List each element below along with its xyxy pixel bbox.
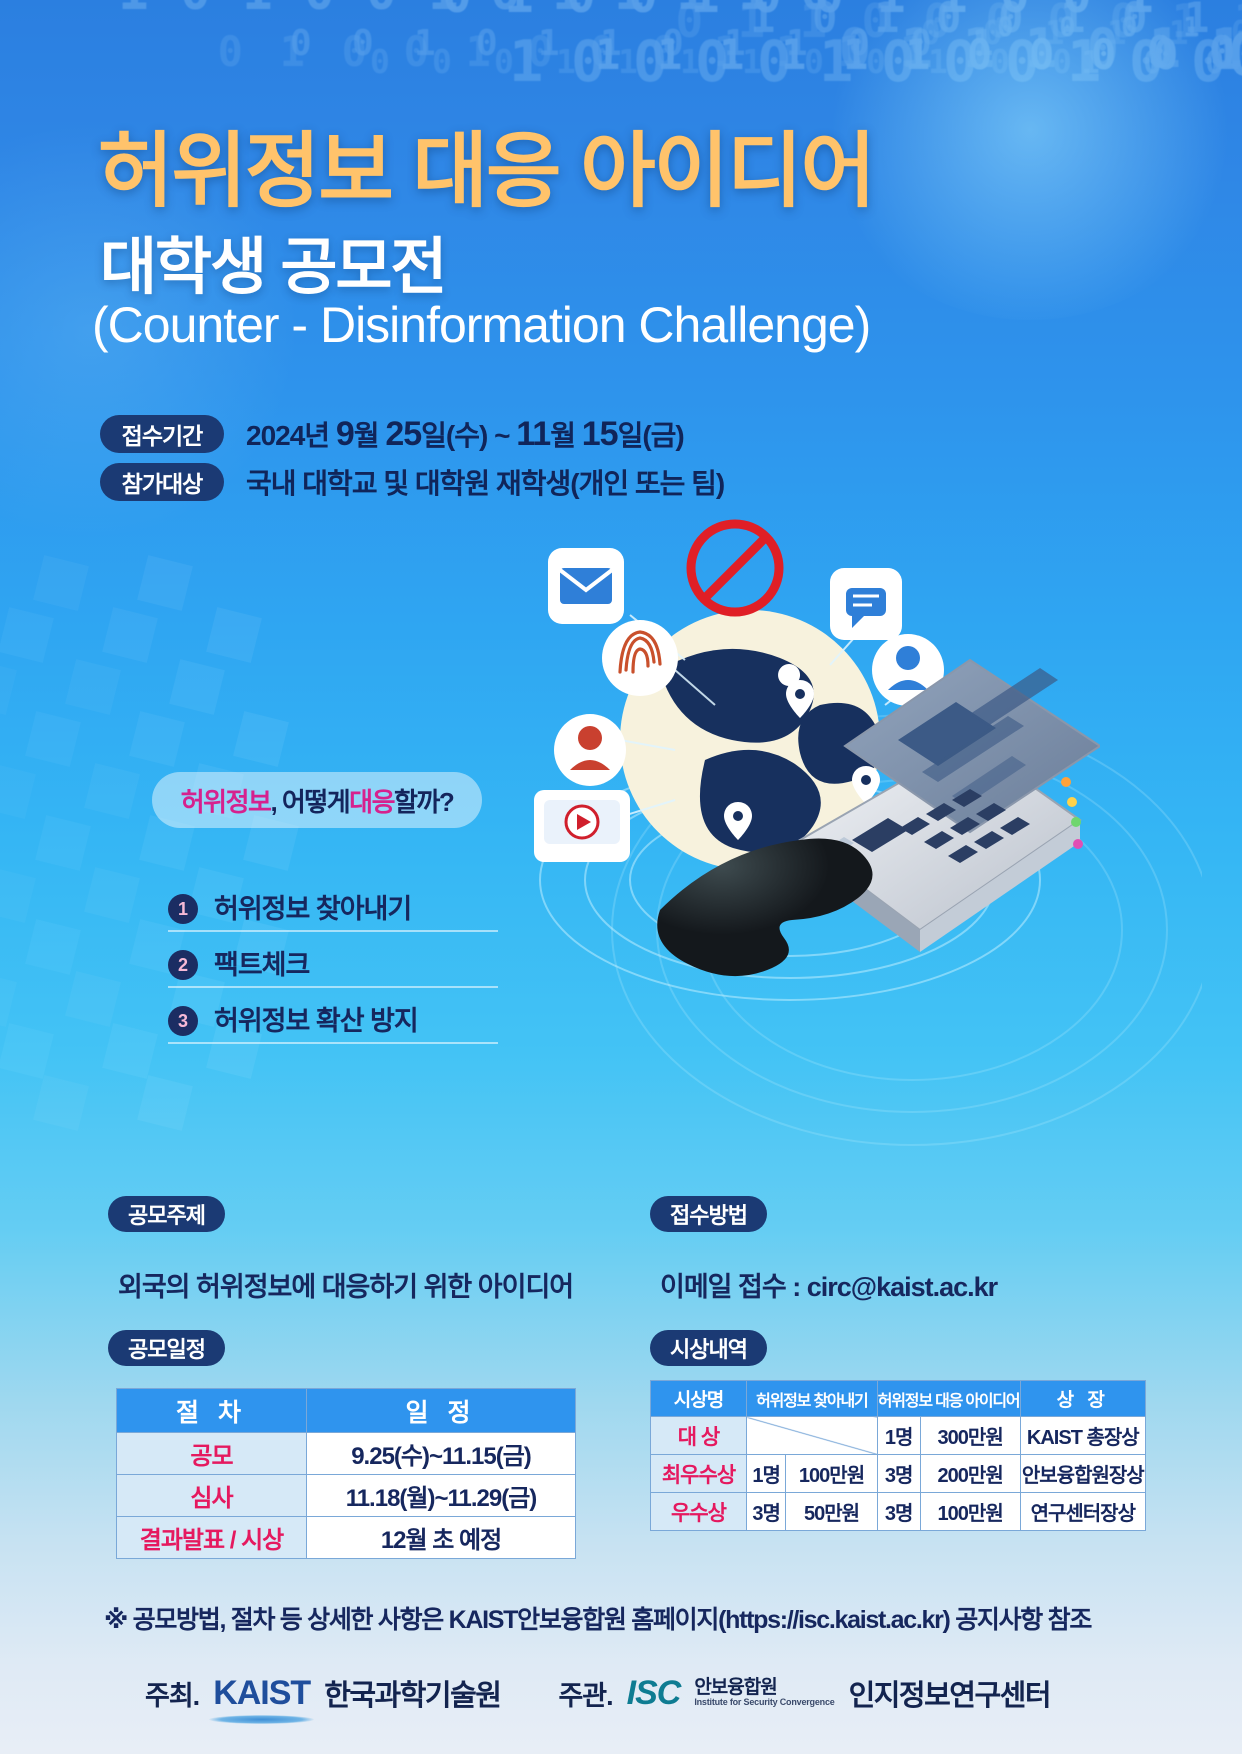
wave-square	[169, 659, 225, 715]
step-number-icon: 2	[168, 950, 198, 980]
wave-square	[25, 919, 81, 975]
organizer-manager-name: 인지정보연구센터	[849, 1672, 1050, 1714]
schedule-step-name: 결과발표 / 시상	[117, 1517, 307, 1559]
binary-column: 1 1 0 0 0 0 1 1 1 1 1 1	[576, 30, 1242, 81]
wave-square	[33, 1075, 89, 1131]
binary-column: 1 1 0 1 0 1 1 0 1 1 1 0	[823, 17, 1242, 82]
value-contest-topic: 외국의 허위정보에 대응하기 위한 아이디어	[118, 1265, 573, 1304]
schedule-step-date: 11.18(월)~11.29(금)	[307, 1475, 576, 1517]
step-label: 허위정보 확산 방지	[214, 999, 418, 1038]
label-contest-topic: 공모주제	[108, 1196, 225, 1232]
question-text-2: 할까?	[394, 782, 453, 819]
video-play-icon	[534, 790, 630, 862]
question-highlight-1: 허위정보	[181, 782, 271, 819]
award-find-count: 3명	[747, 1493, 786, 1531]
binary-column: 0 0 0 0 0 1 0 0 0 0 0 1	[1059, 45, 1242, 83]
table-header-row: 시상명 허위정보 찾아내기 허위정보 대응 아이디어 상 장	[651, 1381, 1146, 1417]
table-row: 공모 9.25(수)~11.15(금)	[117, 1433, 576, 1475]
binary-column: 0 1 1 0 0 1 1 0 0 0 0 0	[1129, 27, 1242, 80]
page-title-english: (Counter - Disinformation Challenge)	[92, 296, 870, 354]
period-end-day: 15	[582, 415, 618, 453]
glow-blob-1	[820, 0, 1240, 320]
list-item: 2 팩트체크	[168, 936, 498, 988]
value-application-period: 2024년 9월 25일(수) ~ 11월 15일(금)	[246, 414, 684, 454]
isc-institute-block: 안보융합원 Institute for Security Convergence	[694, 1678, 834, 1707]
schedule-col-step: 절 차	[117, 1389, 307, 1433]
step-number-icon: 3	[168, 1006, 198, 1036]
organizer-manager-role: 주관.	[558, 1674, 612, 1713]
list-item: 3 허위정보 확산 방지	[168, 992, 498, 1044]
period-end-day-unit: 일(금)	[618, 420, 684, 451]
award-idea-prize: 300만원	[920, 1417, 1020, 1455]
envelope-icon	[548, 548, 624, 624]
binary-column: 1 0 0 1 1 0 1 1 0 1 0 0	[269, 23, 1013, 66]
binary-column: 0 1 1 0 1 0 1 0 1 0 0 0	[974, 12, 1242, 45]
binary-column: 1 1 1 0 1 0 1 0 0 1 0 1	[731, 0, 1242, 44]
table-row: 대 상 1명 300만원 KAIST 총장상	[651, 1417, 1146, 1455]
label-awards: 시상내역	[650, 1330, 767, 1366]
wave-square	[0, 1023, 54, 1079]
wave-square	[84, 867, 140, 923]
value-eligibility: 국내 대학교 및 대학원 재학생(개인 또는 팀)	[246, 462, 724, 502]
question-banner: 허위정보, 어떻게 대응할까?	[152, 772, 482, 828]
label-application-period: 접수기간	[100, 415, 224, 453]
award-find-prize: 50만원	[786, 1493, 877, 1531]
awards-table: 시상명 허위정보 찾아내기 허위정보 대응 아이디어 상 장 대 상 1명 30…	[650, 1380, 1146, 1531]
schedule-step-date: 9.25(수)~11.15(금)	[307, 1433, 576, 1475]
awards-col-idea: 허위정보 대응 아이디어	[877, 1381, 1020, 1417]
binary-column: 0 1 1 1 0 0 0 0 0 1 1 0	[658, 0, 1242, 50]
value-application-method: 이메일 접수 : circ@kaist.ac.kr	[660, 1265, 997, 1304]
schedule-step-name: 공모	[117, 1433, 307, 1475]
award-find-count: 1명	[747, 1455, 786, 1493]
wave-square	[233, 711, 289, 767]
wave-decoration	[0, 560, 450, 1180]
award-idea-prize: 100만원	[920, 1493, 1020, 1531]
period-start-month: 9	[336, 415, 354, 453]
info-row-eligibility: 참가대상 국내 대학교 및 대학원 재학생(개인 또는 팀)	[100, 461, 724, 503]
wave-square	[84, 763, 140, 819]
award-idea-count: 3명	[877, 1493, 920, 1531]
kaist-logo-icon: KAIST	[213, 1674, 310, 1713]
binary-column: 0 1 1 1 1 0 1 0 0 1 0 1	[102, 0, 846, 24]
award-certificate: 연구센터장상	[1020, 1493, 1145, 1531]
schedule-table: 절 차 일 정 공모 9.25(수)~11.15(금) 심사 11.18(월)~…	[116, 1388, 576, 1559]
awards-col-find: 허위정보 찾아내기	[747, 1381, 878, 1417]
award-idea-count: 3명	[877, 1455, 920, 1493]
wave-square	[0, 659, 17, 715]
award-find-empty	[747, 1417, 878, 1455]
award-certificate: KAIST 총장상	[1020, 1417, 1145, 1455]
fingerprint-icon	[602, 620, 678, 696]
isc-logo-icon: ISC	[627, 1674, 681, 1713]
step-label: 허위정보 찾아내기	[214, 887, 411, 926]
organizer-host-role: 주최.	[145, 1674, 199, 1713]
binary-column: 0 0 1 0 0 1 1 1 1 0 0 0	[348, 42, 1092, 83]
wave-square	[0, 867, 36, 923]
page-subtitle: 대학생 공모전	[100, 216, 445, 306]
organizer-host: 주최. KAIST 한국과학기술원	[145, 1672, 500, 1714]
table-row: 최우수상 1명 100만원 3명 200만원 안보융합원장상	[651, 1455, 1146, 1493]
label-application-method: 접수방법	[650, 1196, 767, 1232]
hand-illustration	[657, 839, 872, 977]
wave-square	[129, 711, 185, 767]
wave-square	[65, 971, 121, 1027]
wave-square	[137, 555, 193, 611]
award-name: 최우수상	[651, 1455, 747, 1493]
step-number-icon: 1	[168, 894, 198, 924]
schedule-step-name: 심사	[117, 1475, 307, 1517]
label-eligibility: 참가대상	[100, 463, 224, 501]
binary-column: 1 0 0 1 1 0 0 1 0 0 1 0	[425, 0, 1169, 26]
award-certificate: 안보융합원장상	[1020, 1455, 1145, 1493]
wave-square	[0, 971, 17, 1027]
period-end-month: 11	[516, 415, 550, 453]
label-schedule: 공모일정	[108, 1330, 225, 1366]
awards-col-certificate: 상 장	[1020, 1381, 1145, 1417]
wave-square	[206, 607, 262, 663]
poster-root: 1 0 1 1 1 1 1 1 0 1 0 0 0 1 1 1 1 0 1 0 …	[0, 0, 1242, 1754]
award-name: 대 상	[651, 1417, 747, 1455]
page-title: 허위정보 대응 아이디어	[98, 104, 874, 223]
award-idea-count: 1명	[877, 1417, 920, 1455]
period-start-day: 25	[385, 415, 421, 453]
prohibition-icon	[691, 524, 779, 612]
wave-square	[102, 1023, 158, 1079]
key-info-block: 접수기간 2024년 9월 25일(수) ~ 11월 15일(금) 참가대상 국…	[100, 413, 724, 509]
wave-square	[65, 659, 121, 715]
period-start-day-unit: 일(수) ~	[421, 420, 516, 451]
user-red-icon	[554, 714, 626, 786]
table-row: 우수상 3명 50만원 3명 100만원 연구센터장상	[651, 1493, 1146, 1531]
period-year: 2024년	[246, 420, 336, 451]
organizers-row: 주최. KAIST 한국과학기술원 주관. ISC 안보융합원 Institut…	[145, 1672, 1050, 1714]
organizer-manager: 주관. ISC 안보융합원 Institute for Security Con…	[558, 1672, 1050, 1714]
wave-square	[137, 1075, 193, 1131]
chat-icon	[830, 568, 902, 640]
table-row: 결과발표 / 시상 12월 초 예정	[117, 1517, 576, 1559]
wave-square	[33, 555, 89, 611]
table-row: 심사 11.18(월)~11.29(금)	[117, 1475, 576, 1517]
period-end-month-unit: 월	[550, 420, 582, 451]
award-find-prize: 100만원	[786, 1455, 877, 1493]
binary-column: 1 0 1 0 0 0 0 1 1 1 0 0	[899, 13, 1242, 54]
period-start-month-unit: 월	[354, 420, 386, 451]
step-label: 팩트체크	[214, 943, 309, 982]
binary-column: 1 1 0 1 1 1 1 1 1 1 1 0	[1214, 20, 1242, 91]
binary-column: 1 1 1 1 0 0 0 1 0 0 1 0	[199, 27, 943, 78]
globe-laptop-illustration	[500, 510, 1100, 1070]
footnote-text: ※ 공모방법, 절차 등 상세한 사항은 KAIST안보융합원 홈페이지(htt…	[104, 1600, 1091, 1636]
isc-name-korean: 안보융합원	[694, 1678, 834, 1698]
wave-square	[0, 763, 36, 819]
question-highlight-2: 대응	[349, 782, 394, 819]
list-item: 1 허위정보 찾아내기	[168, 880, 498, 932]
wave-square	[0, 607, 54, 663]
wave-square	[25, 711, 81, 767]
award-idea-prize: 200만원	[920, 1455, 1020, 1493]
steps-list: 1 허위정보 찾아내기 2 팩트체크 3 허위정보 확산 방지	[168, 880, 498, 1048]
awards-col-name: 시상명	[651, 1381, 747, 1417]
question-text-1: , 어떻게	[270, 782, 349, 819]
table-header-row: 절 차 일 정	[117, 1389, 576, 1433]
organizer-host-name: 한국과학기술원	[324, 1672, 500, 1714]
isc-name-english: Institute for Security Convergence	[694, 1698, 834, 1707]
schedule-step-date: 12월 초 예정	[307, 1517, 576, 1559]
binary-column: 0 0 1 0 0 0 1 0 0 0 0 1	[495, 29, 1239, 97]
wave-square	[102, 607, 158, 663]
info-row-period: 접수기간 2024년 9월 25일(수) ~ 11월 15일(금)	[100, 413, 724, 455]
schedule-col-date: 일 정	[307, 1389, 576, 1433]
wave-square	[35, 815, 91, 871]
award-name: 우수상	[651, 1493, 747, 1531]
